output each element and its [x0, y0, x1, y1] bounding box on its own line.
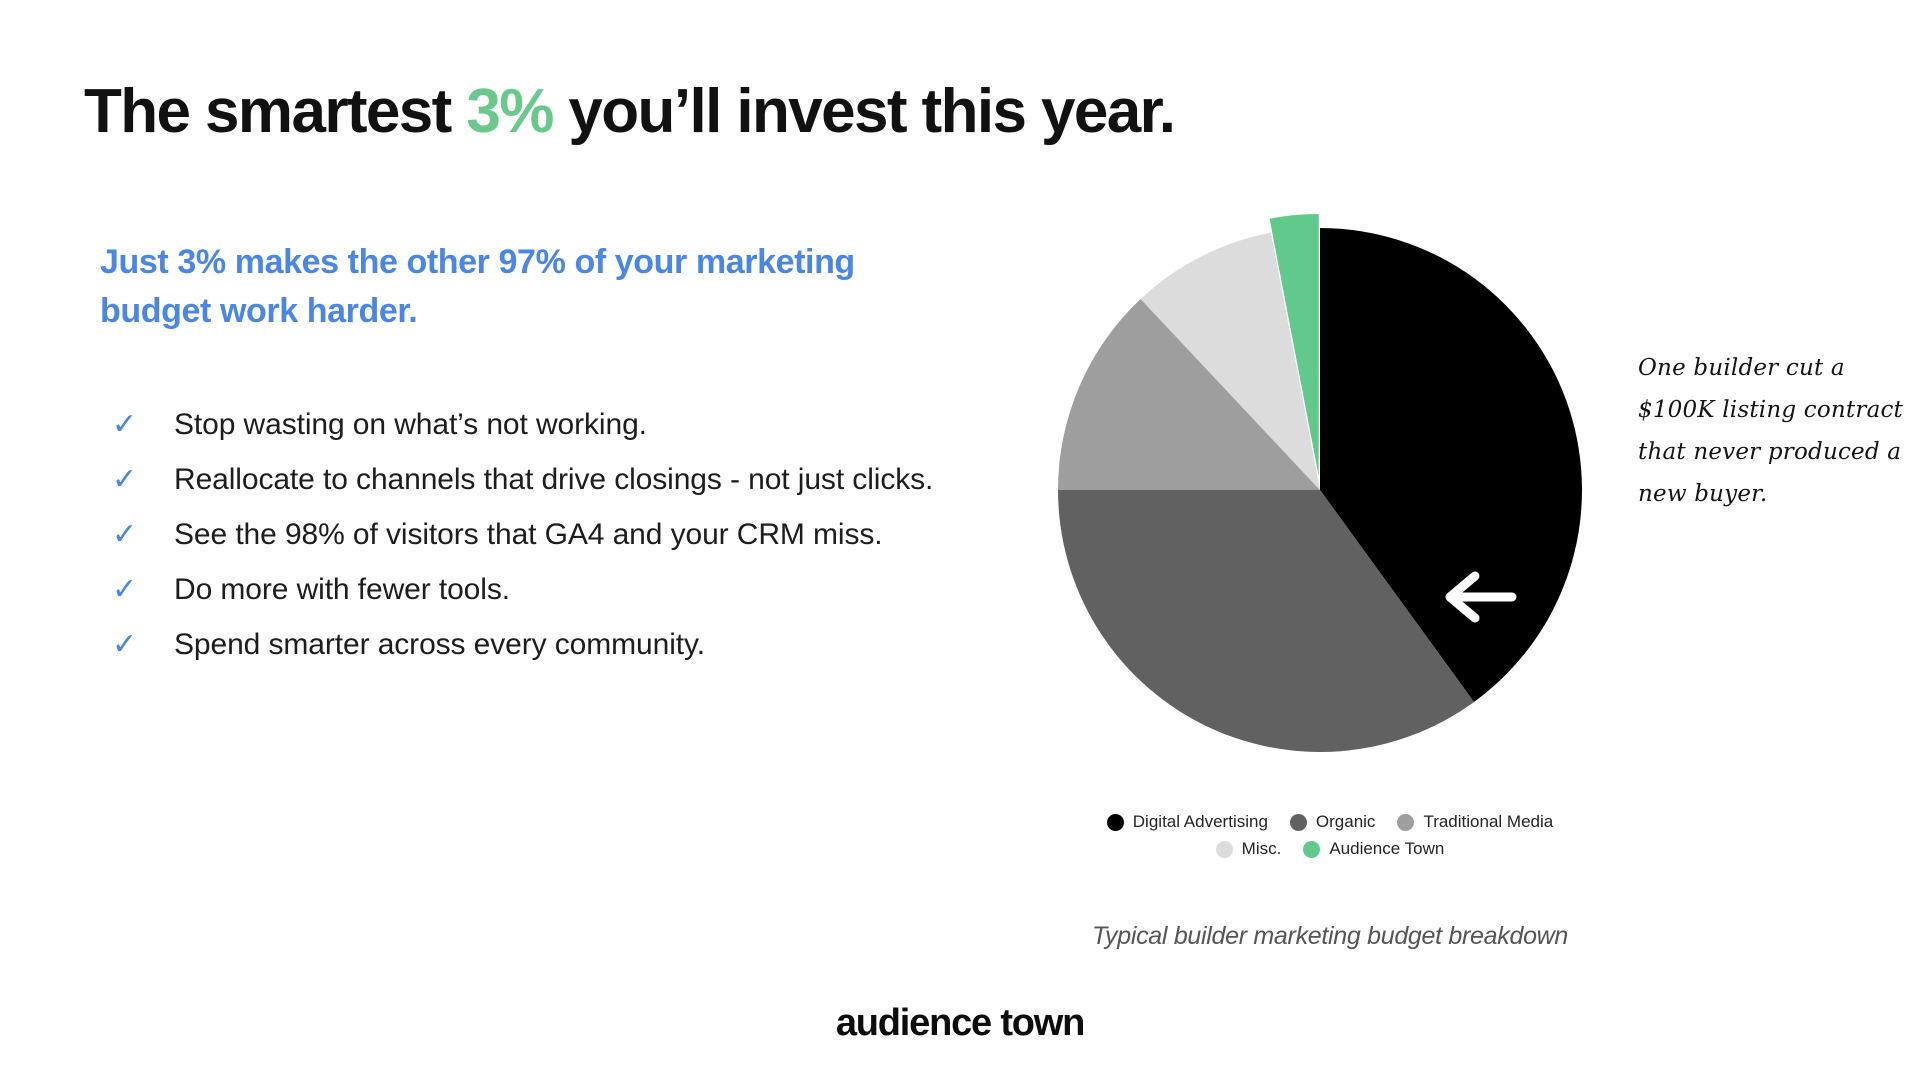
legend-swatch-icon: [1303, 841, 1320, 858]
legend-swatch-icon: [1290, 814, 1307, 831]
list-item: ✓ Do more with fewer tools.: [102, 565, 942, 614]
handwritten-annotation: One builder cut a $100K listing contract…: [1638, 348, 1906, 515]
legend-item-digital-advertising[interactable]: Digital Advertising: [1107, 812, 1268, 832]
list-item: ✓ Stop wasting on what’s not working.: [102, 400, 942, 449]
chart-caption: Typical builder marketing budget breakdo…: [1020, 922, 1640, 951]
check-icon: ✓: [102, 620, 174, 669]
benefits-list: ✓ Stop wasting on what’s not working. ✓ …: [102, 400, 942, 675]
check-icon: ✓: [102, 510, 174, 559]
headline-part-2: you’ll invest this year.: [553, 77, 1175, 146]
page-title: The smartest 3% you’ll invest this year.: [84, 78, 1174, 146]
pie-slice-group: [1058, 214, 1582, 752]
list-item-label: Stop wasting on what’s not working.: [174, 400, 942, 449]
legend-label: Organic: [1316, 812, 1376, 832]
legend-swatch-icon: [1107, 814, 1124, 831]
list-item: ✓ See the 98% of visitors that GA4 and y…: [102, 510, 942, 559]
budget-pie-chart: [1020, 190, 1620, 790]
check-icon: ✓: [102, 455, 174, 504]
legend-label: Traditional Media: [1423, 812, 1553, 832]
legend-swatch-icon: [1216, 841, 1233, 858]
check-icon: ✓: [102, 565, 174, 614]
legend-label: Misc.: [1242, 839, 1282, 859]
list-item-label: Spend smarter across every community.: [174, 620, 942, 669]
list-item-label: Do more with fewer tools.: [174, 565, 942, 614]
legend-label: Audience Town: [1329, 839, 1444, 859]
check-icon: ✓: [102, 400, 174, 449]
list-item-label: See the 98% of visitors that GA4 and you…: [174, 510, 942, 559]
list-item: ✓ Spend smarter across every community.: [102, 620, 942, 669]
legend-item-misc[interactable]: Misc.: [1216, 839, 1282, 859]
legend-item-organic[interactable]: Organic: [1290, 812, 1376, 832]
legend-item-audience-town[interactable]: Audience Town: [1303, 839, 1444, 859]
legend-row-1: Digital Advertising Organic Traditional …: [1020, 812, 1640, 832]
headline-part-1: The smartest: [84, 77, 466, 146]
list-item: ✓ Reallocate to channels that drive clos…: [102, 455, 942, 504]
brand-logo: audience town: [0, 1002, 1920, 1045]
list-item-label: Reallocate to channels that drive closin…: [174, 455, 942, 504]
subheadline: Just 3% makes the other 97% of your mark…: [100, 238, 920, 336]
legend-item-traditional-media[interactable]: Traditional Media: [1397, 812, 1553, 832]
chart-legend: Digital Advertising Organic Traditional …: [1020, 812, 1640, 866]
pie-chart-svg: [1020, 190, 1620, 790]
legend-swatch-icon: [1397, 814, 1414, 831]
legend-row-2: Misc. Audience Town: [1020, 839, 1640, 859]
headline-accent-percent: 3%: [466, 77, 552, 146]
legend-label: Digital Advertising: [1133, 812, 1268, 832]
